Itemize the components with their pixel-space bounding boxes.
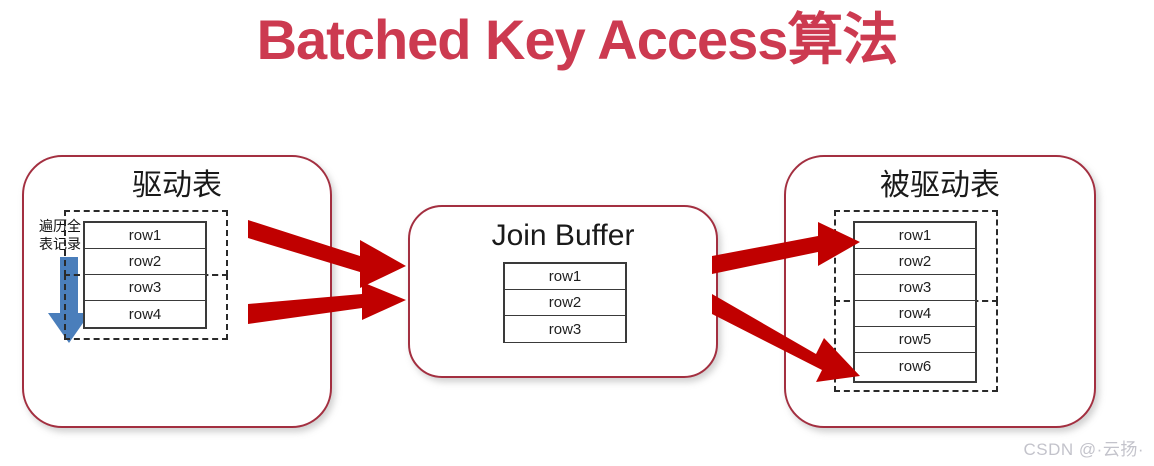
join-buffer-caption: Join Buffer <box>410 219 716 253</box>
driven-row-table: row1 row2 row3 row4 row5 row6 <box>853 221 977 383</box>
driven-table-caption: 被驱动表 <box>786 169 1094 203</box>
table-row: row1 <box>85 223 205 249</box>
table-row: row1 <box>855 223 975 249</box>
arrow-driving-to-join-buffer-upper-icon <box>248 218 406 290</box>
table-row: row2 <box>855 249 975 275</box>
table-row: row6 <box>855 353 975 379</box>
table-row: row3 <box>505 316 625 342</box>
driving-table-caption: 驱动表 <box>24 169 330 203</box>
join-buffer-container: Join Buffer row1 row2 row3 <box>408 205 718 378</box>
join-buffer-row-table: row1 row2 row3 <box>503 262 627 343</box>
table-row: row3 <box>85 275 205 301</box>
table-row: row2 <box>505 290 625 316</box>
page-title: Batched Key Access算法 <box>0 8 1154 72</box>
diagram-canvas: Batched Key Access算法 驱动表 遍历全 表记录 row1 ro… <box>0 0 1154 466</box>
table-row: row5 <box>855 327 975 353</box>
table-row: row1 <box>505 264 625 290</box>
table-row: row4 <box>85 301 205 327</box>
table-row: row4 <box>855 301 975 327</box>
table-row: row3 <box>855 275 975 301</box>
table-row: row2 <box>85 249 205 275</box>
arrow-join-buffer-to-driven-lower-icon <box>712 290 860 386</box>
arrow-driving-to-join-buffer-lower-icon <box>248 282 406 330</box>
arrow-join-buffer-to-driven-upper-icon <box>712 222 860 280</box>
watermark: CSDN @·云扬· <box>1024 435 1144 460</box>
driving-row-table: row1 row2 row3 row4 <box>83 221 207 329</box>
